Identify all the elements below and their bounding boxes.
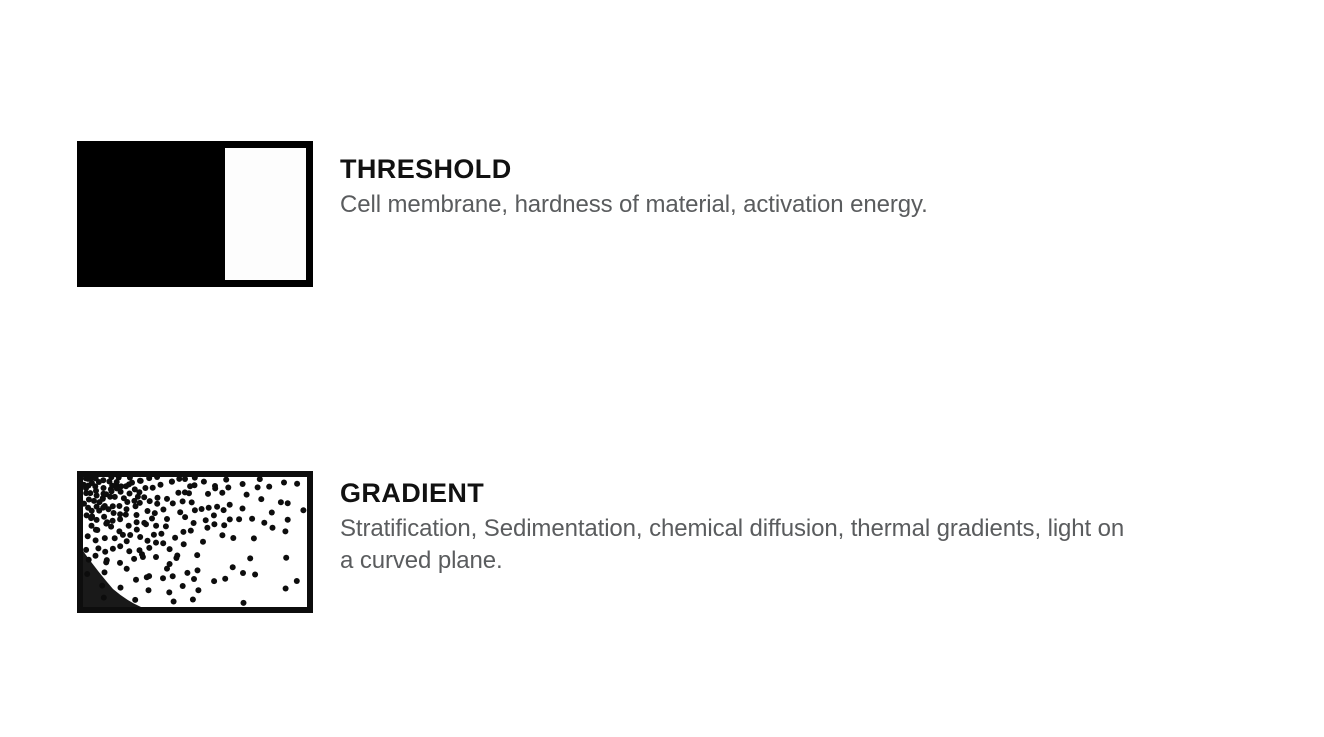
concept-description-gradient: Stratification, Sedimentation, chemical …: [340, 513, 1140, 577]
concept-row-threshold: THRESHOLD Cell membrane, hardness of mat…: [77, 141, 1140, 287]
gradient-dot-density-icon: [77, 471, 313, 613]
gradient-dots-svg: [83, 477, 307, 607]
slide-canvas: THRESHOLD Cell membrane, hardness of mat…: [0, 0, 1324, 737]
concept-title-gradient: GRADIENT: [340, 478, 1140, 508]
concept-title-threshold: THRESHOLD: [340, 154, 1140, 184]
gradient-text-block: GRADIENT Stratification, Sedimentation, …: [340, 471, 1140, 577]
threshold-icon-wrapper: [77, 141, 313, 287]
gradient-icon-wrapper: [77, 471, 313, 613]
threshold-text-block: THRESHOLD Cell membrane, hardness of mat…: [340, 141, 1140, 221]
concept-description-threshold: Cell membrane, hardness of material, act…: [340, 189, 1140, 221]
gradient-dot-field: [83, 477, 307, 607]
threshold-split-rectangle-icon: [77, 141, 313, 287]
threshold-white-panel: [225, 148, 306, 280]
concept-row-gradient: GRADIENT Stratification, Sedimentation, …: [77, 471, 1140, 613]
